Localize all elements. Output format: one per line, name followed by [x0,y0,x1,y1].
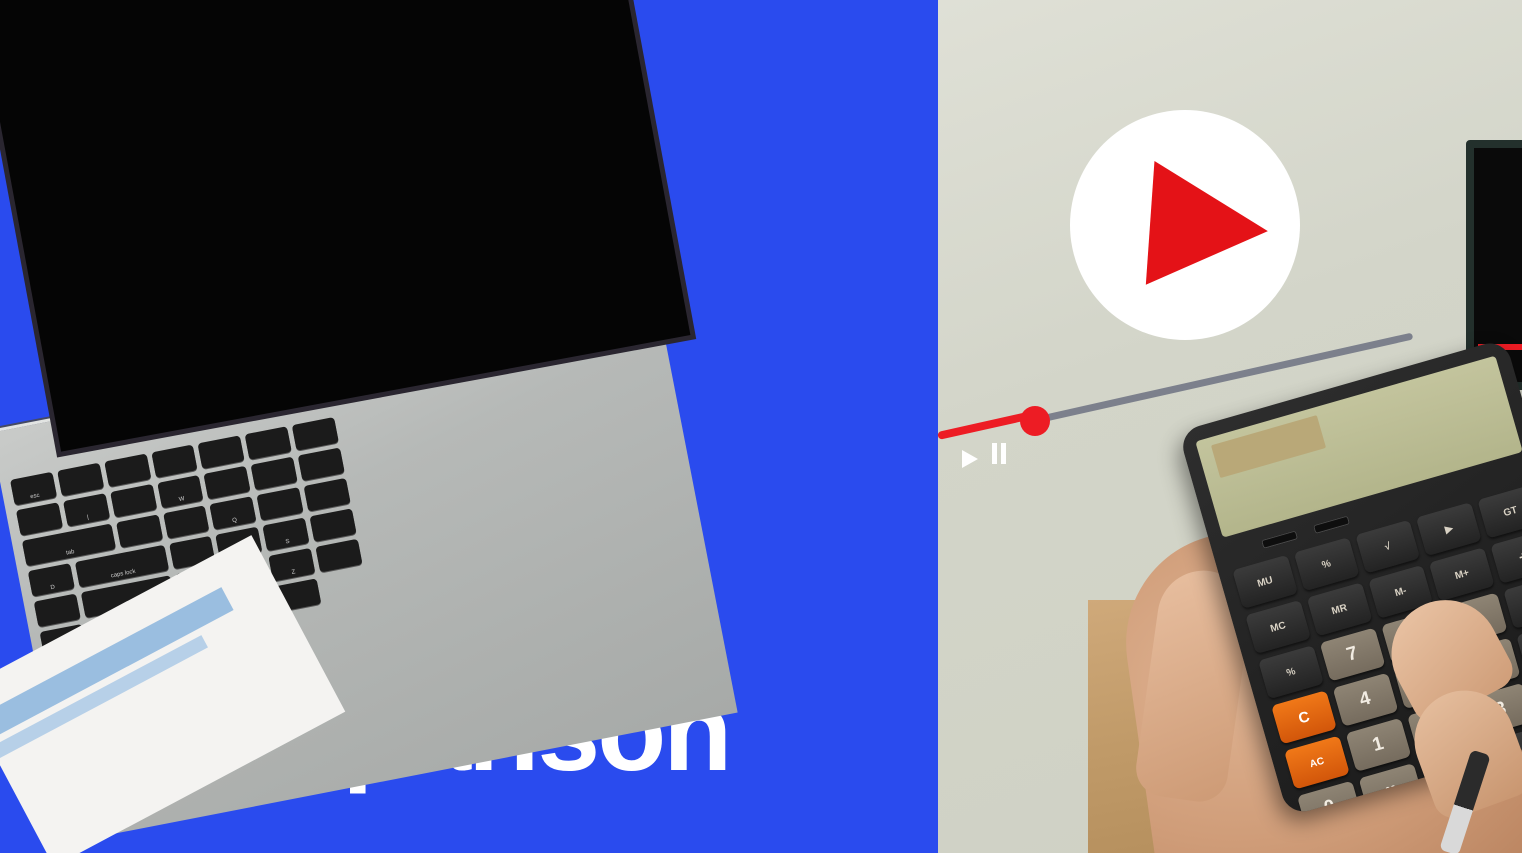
play-triangle-icon[interactable] [1146,161,1272,293]
keyboard-key[interactable] [316,539,363,573]
calculator-key-4[interactable]: 4 [1332,673,1398,727]
calculator-solar-panel [1211,415,1326,478]
keyboard-key[interactable] [34,594,81,628]
keyboard-key[interactable]: S [263,517,310,551]
keyboard-key[interactable] [298,447,345,481]
keyboard-key[interactable] [310,508,357,542]
calculator-decimal-switch[interactable] [1313,515,1350,534]
keyboard-key-z[interactable]: Z [269,548,316,582]
keyboard-key[interactable] [110,484,157,518]
keyboard-key[interactable]: W [157,475,204,509]
calculator-key-1[interactable]: 1 [1345,718,1411,772]
keyboard-key[interactable]: Q [210,496,257,530]
keyboard-key[interactable]: | [63,493,110,527]
calculator-key-divide[interactable]: ÷ [1491,530,1522,584]
calculator-key-all-clear[interactable]: AC [1284,735,1350,789]
play-icon[interactable] [962,450,978,468]
video-progress-scrubber[interactable] [1020,406,1050,436]
keyboard-key[interactable] [163,505,210,539]
keyboard-key[interactable] [257,487,304,521]
keyboard-key[interactable] [304,478,351,512]
calculator-key[interactable]: % [1258,645,1324,699]
keyboard-key[interactable] [204,466,251,500]
calculator-key-7[interactable]: 7 [1319,628,1385,682]
calculator-key[interactable]: MU [1232,555,1298,609]
calculator-key-multiply[interactable]: × [1503,575,1522,629]
keyboard-key[interactable] [251,457,298,491]
pause-icon[interactable] [992,443,1006,464]
calculator-key[interactable]: √ [1355,520,1421,574]
hero-banner: comparison Live Streaming Pricing Compar… [0,0,1522,853]
calculator-key[interactable]: MC [1245,600,1311,654]
calculator-key[interactable]: ▶ [1416,502,1482,556]
calculator-key[interactable]: M+ [1429,547,1495,601]
calculator-key-clear[interactable]: C [1271,690,1337,744]
keyboard-key[interactable] [116,514,163,548]
calculator-key[interactable]: MR [1307,582,1373,636]
keyboard-key[interactable] [16,502,63,536]
calculator-power-switch[interactable] [1261,530,1298,549]
calculator-key[interactable]: GT [1478,484,1522,538]
keyboard-key[interactable]: D [28,563,75,597]
calculator-key[interactable]: % [1294,537,1360,591]
